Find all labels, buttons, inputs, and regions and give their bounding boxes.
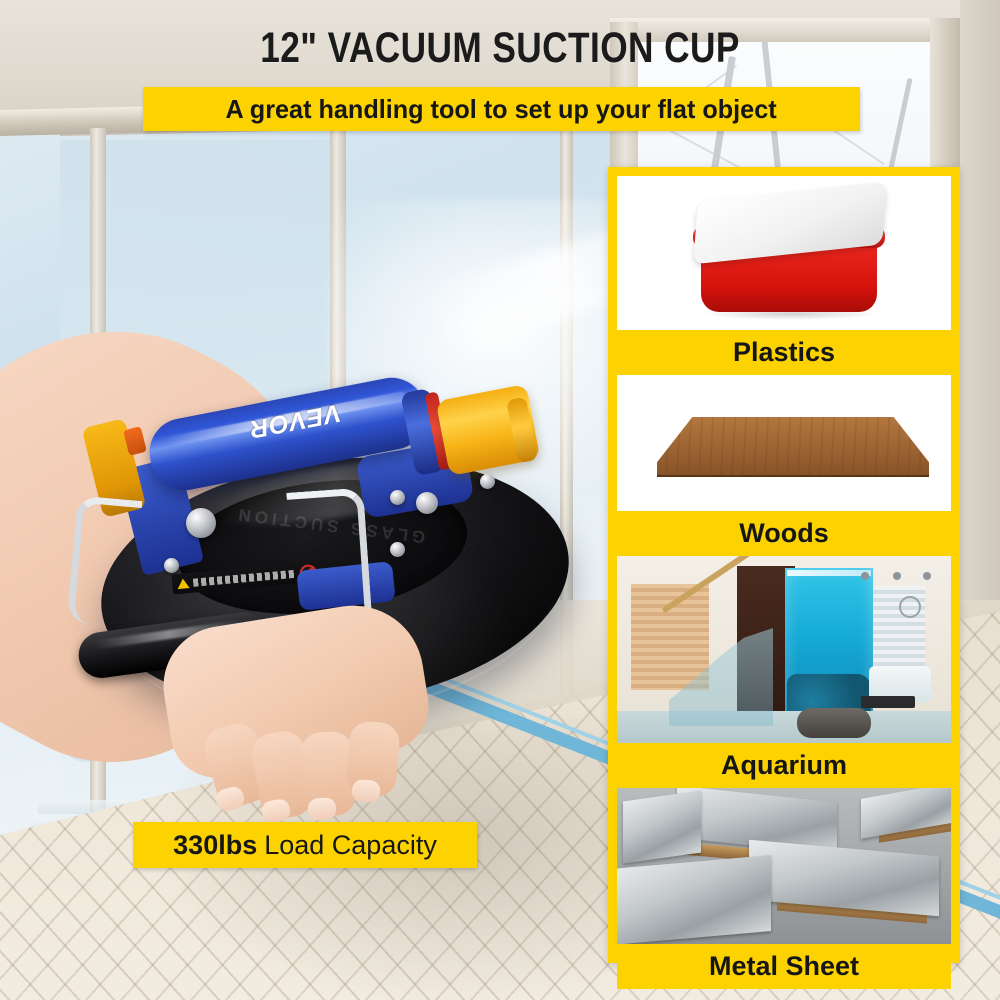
metal-sheet	[617, 855, 771, 944]
metal-sheet-image	[617, 788, 951, 944]
ottoman	[797, 708, 871, 738]
ceiling-spotlight	[923, 572, 931, 580]
application-card-plastics: Plastics	[617, 176, 951, 375]
vacuum-suction-cup-product: GLASS SUCTION VEVOR	[60, 370, 580, 750]
application-card-metal-sheet: Metal Sheet	[617, 788, 951, 989]
screw	[164, 558, 179, 573]
screw	[480, 474, 495, 489]
ceiling-spotlight	[893, 572, 901, 580]
warning-text-lines	[193, 570, 296, 587]
capacity-value: 330lbs	[173, 830, 257, 861]
application-card-aquarium: Aquarium	[617, 556, 951, 788]
wall-clock-icon	[899, 596, 921, 618]
load-capacity-badge: 330lbs Load Capacity	[133, 822, 477, 868]
screw	[390, 542, 405, 557]
capacity-label: Load Capacity	[264, 830, 437, 861]
aquarium-label: Aquarium	[617, 743, 951, 788]
page-title: 12" VACUUM SUCTION CUP	[90, 24, 910, 73]
subtitle-banner: A great handling tool to set up your fla…	[143, 87, 860, 131]
product-infographic: GLASS SUCTION VEVOR	[0, 0, 1000, 1000]
metal-sheet	[623, 791, 701, 864]
woods-image	[617, 375, 951, 511]
pivot-bolt	[416, 492, 438, 514]
coffee-table	[861, 696, 915, 708]
subtitle-text: A great handling tool to set up your fla…	[226, 94, 777, 125]
wood-board-icon	[657, 417, 929, 475]
application-panel-column: Plastics Woods	[608, 167, 960, 963]
room-floor	[617, 711, 951, 743]
screw	[390, 490, 405, 505]
pivot-bolt	[186, 508, 216, 538]
ceiling-spotlight	[861, 572, 869, 580]
fingernail	[307, 797, 336, 821]
warning-triangle-icon	[177, 578, 190, 589]
plastics-label: Plastics	[617, 330, 951, 375]
release-lever-left	[67, 495, 143, 627]
aquarium-image	[617, 556, 951, 743]
application-card-woods: Woods	[617, 375, 951, 556]
woods-label: Woods	[617, 511, 951, 556]
metal-sheet-label: Metal Sheet	[617, 944, 951, 989]
plastics-image	[617, 176, 951, 330]
fingernail	[351, 779, 380, 803]
wooden-blinds	[631, 584, 709, 690]
tank-light	[787, 570, 871, 576]
